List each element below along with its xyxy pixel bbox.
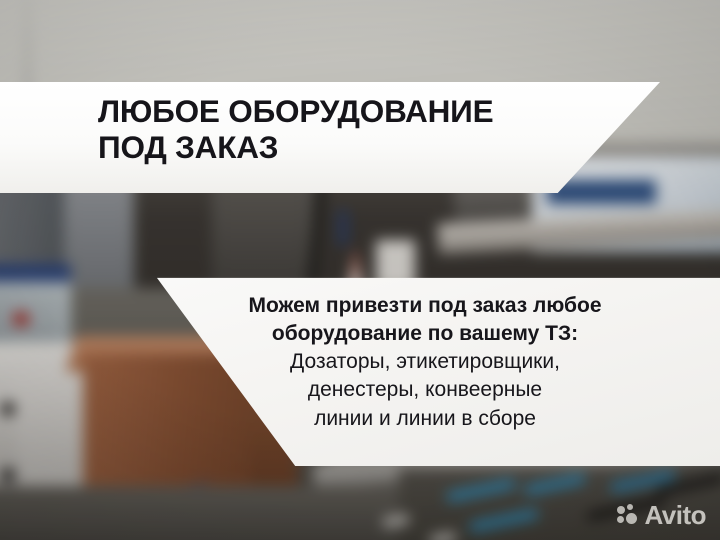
body-lead-text: Можем привезти под заказ любое оборудова…	[180, 292, 670, 348]
bg-red-cap	[13, 312, 29, 326]
body-list-text: Дозаторы, этикетировщики, денестеры, кон…	[180, 348, 670, 432]
avito-watermark: Avito	[617, 502, 706, 528]
body-text-block: Можем привезти под заказ любое оборудова…	[180, 292, 670, 433]
promo-banner-image: ЛЮБОЕ ОБОРУДОВАНИЕ ПОД ЗАКАЗ Можем приве…	[0, 0, 720, 540]
headline-title: ЛЮБОЕ ОБОРУДОВАНИЕ ПОД ЗАКАЗ	[98, 94, 618, 165]
bg-bottle	[337, 210, 349, 246]
avito-wordmark: Avito	[644, 502, 706, 528]
avito-dots-icon	[617, 504, 639, 526]
